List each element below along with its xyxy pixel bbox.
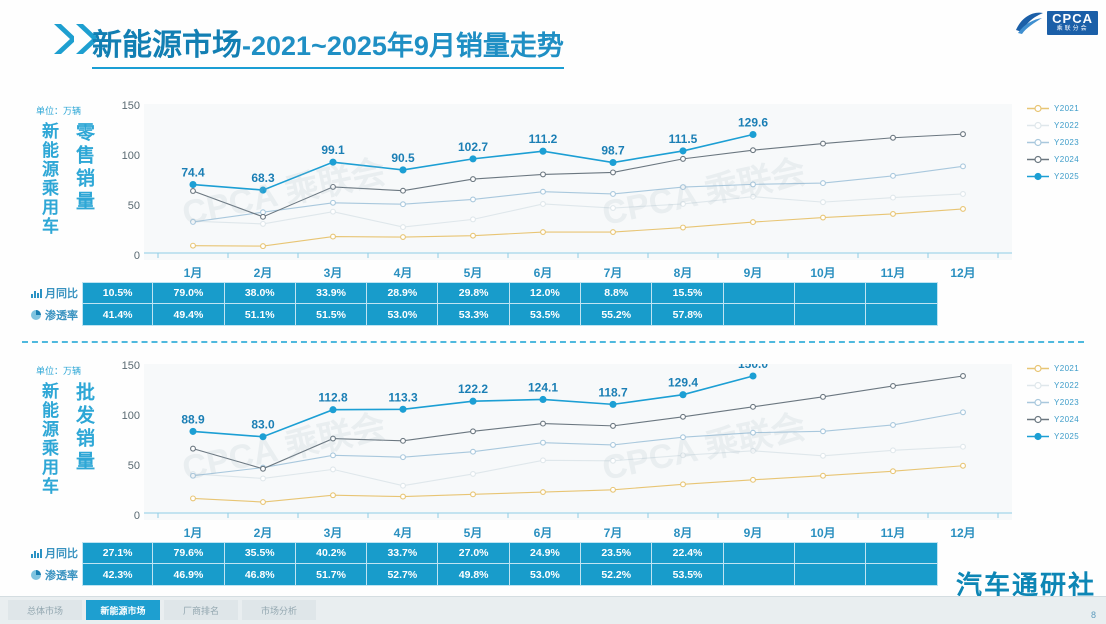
table-cell: 52.2% — [581, 564, 652, 586]
table-row-label-text: 月同比 — [45, 545, 78, 561]
wholesale-ytick-100: 100 — [114, 410, 140, 422]
svg-text:112.8: 112.8 — [318, 391, 348, 405]
x-axis-month-label: 1月 — [170, 264, 216, 281]
svg-text:122.2: 122.2 — [458, 382, 488, 396]
wholesale-chart-panel: 单位：万辆 新能源乘用车 批发销量 150 100 50 0 88.983.01… — [22, 346, 1084, 596]
table-cell: 24.9% — [510, 542, 581, 564]
x-axis-month-label: 2月 — [240, 264, 286, 281]
retail-legend: Y2021Y2022Y2023Y2024Y2025 — [1027, 104, 1079, 181]
legend-label: Y2022 — [1054, 381, 1079, 390]
table-cell: 49.4% — [153, 304, 224, 326]
table-cell: 46.9% — [153, 564, 224, 586]
legend-swatch-icon — [1027, 398, 1049, 407]
wholesale-metric-label: 批发销量 — [70, 382, 97, 474]
table-row: 27.1%79.6%35.5%40.2%33.7%27.0%24.9%23.5%… — [82, 542, 938, 564]
table-cell: 53.3% — [438, 304, 509, 326]
legend-item-y2025[interactable]: Y2025 — [1027, 432, 1079, 441]
legend-label: Y2021 — [1054, 104, 1079, 113]
x-axis-month-label: 5月 — [450, 264, 496, 281]
table-cell: 38.0% — [225, 282, 296, 304]
table-cell: 52.7% — [367, 564, 438, 586]
svg-text:88.9: 88.9 — [181, 412, 205, 426]
wholesale-data-table: 月同比渗透率 27.1%79.6%35.5%40.2%33.7%27.0%24.… — [22, 542, 938, 586]
retail-line-chart: 74.468.399.190.5102.7111.298.7111.5129.6 — [144, 104, 1012, 260]
table-cell: 33.7% — [367, 542, 438, 564]
table-cell: 51.7% — [296, 564, 367, 586]
cpca-swoosh-icon — [1014, 10, 1044, 36]
retail-ytick-150: 150 — [114, 100, 140, 112]
legend-item-y2024[interactable]: Y2024 — [1027, 155, 1079, 164]
legend-item-y2024[interactable]: Y2024 — [1027, 415, 1079, 424]
table-row-label-text: 渗透率 — [45, 567, 78, 583]
table-cell: 51.1% — [225, 304, 296, 326]
cpca-logo-subtext: 乘联分会 — [1052, 25, 1093, 33]
cpca-logo-block: CPCA 乘联分会 — [1047, 11, 1098, 35]
wholesale-legend: Y2021Y2022Y2023Y2024Y2025 — [1027, 364, 1079, 441]
x-axis-month-label: 11月 — [870, 524, 916, 541]
footer-tabs[interactable]: 总体市场新能源市场厂商排名市场分析 — [8, 600, 316, 620]
table-cell: 23.5% — [581, 542, 652, 564]
legend-item-y2021[interactable]: Y2021 — [1027, 364, 1079, 373]
legend-swatch-icon — [1027, 104, 1049, 113]
x-axis-month-label: 7月 — [590, 524, 636, 541]
table-cell: 41.4% — [82, 304, 153, 326]
x-axis-month-label: 9月 — [730, 264, 776, 281]
bar-chart-icon — [30, 287, 42, 299]
legend-swatch-icon — [1027, 155, 1049, 164]
x-axis-month-label: 3月 — [310, 264, 356, 281]
bar-chart-icon — [30, 547, 42, 559]
table-cell: 22.4% — [652, 542, 723, 564]
page-title-sub: -2021~2025年9月销量走势 — [242, 31, 564, 61]
legend-label: Y2025 — [1054, 172, 1079, 181]
table-cell: 51.5% — [296, 304, 367, 326]
wholesale-unit-label: 单位：万辆 — [36, 364, 81, 377]
table-cell — [795, 304, 866, 326]
legend-swatch-icon — [1027, 381, 1049, 390]
table-cell — [724, 564, 795, 586]
x-axis-month-label: 5月 — [450, 524, 496, 541]
x-axis-month-label: 7月 — [590, 264, 636, 281]
x-axis-month-label: 10月 — [800, 264, 846, 281]
footer-tab-item[interactable]: 厂商排名 — [164, 600, 238, 620]
retail-plot-area: 74.468.399.190.5102.7111.298.7111.5129.6 — [144, 104, 1012, 260]
legend-item-y2023[interactable]: Y2023 — [1027, 398, 1079, 407]
wholesale-category-label: 新能源乘用车 — [36, 382, 61, 496]
footer-bar: 总体市场新能源市场厂商排名市场分析 8 — [0, 596, 1106, 624]
table-cell: 49.8% — [438, 564, 509, 586]
svg-text:74.4: 74.4 — [181, 166, 205, 180]
legend-item-y2021[interactable]: Y2021 — [1027, 104, 1079, 113]
table-cell: 53.5% — [510, 304, 581, 326]
retail-unit-label: 单位：万辆 — [36, 104, 81, 117]
x-axis-month-label: 8月 — [660, 264, 706, 281]
svg-text:118.7: 118.7 — [598, 385, 628, 399]
svg-text:129.4: 129.4 — [668, 376, 698, 390]
cpca-logo: CPCA 乘联分会 — [1014, 10, 1098, 36]
legend-label: Y2023 — [1054, 398, 1079, 407]
legend-label: Y2024 — [1054, 415, 1079, 424]
legend-swatch-icon — [1027, 364, 1049, 373]
wholesale-ytick-50: 50 — [114, 460, 140, 472]
x-axis-month-label: 3月 — [310, 524, 356, 541]
table-cell: 8.8% — [581, 282, 652, 304]
x-axis-month-label: 9月 — [730, 524, 776, 541]
table-row: 41.4%49.4%51.1%51.5%53.0%53.3%53.5%55.2%… — [82, 304, 938, 326]
retail-data-table: 月同比渗透率 10.5%79.0%38.0%33.9%28.9%29.8%12.… — [22, 282, 938, 326]
svg-text:129.6: 129.6 — [738, 115, 768, 129]
retail-ytick-0: 0 — [114, 250, 140, 262]
table-cell — [724, 542, 795, 564]
legend-item-y2022[interactable]: Y2022 — [1027, 381, 1079, 390]
svg-text:90.5: 90.5 — [391, 151, 415, 165]
x-axis-month-label: 8月 — [660, 524, 706, 541]
x-axis-month-label: 6月 — [520, 524, 566, 541]
table-cell: 10.5% — [82, 282, 153, 304]
footer-tab-active[interactable]: 新能源市场 — [86, 600, 160, 620]
table-cell — [866, 282, 937, 304]
svg-text:124.1: 124.1 — [528, 380, 558, 394]
table-cell — [724, 282, 795, 304]
table-cell: 35.5% — [225, 542, 296, 564]
retail-metric-label: 零售销量 — [70, 122, 97, 214]
x-axis-month-label: 10月 — [800, 524, 846, 541]
table-cell: 79.0% — [153, 282, 224, 304]
table-cell: 27.1% — [82, 542, 153, 564]
legend-label: Y2022 — [1054, 121, 1079, 130]
table-cell: 57.8% — [652, 304, 723, 326]
svg-text:111.2: 111.2 — [529, 132, 558, 146]
svg-text:99.1: 99.1 — [321, 143, 345, 157]
legend-item-y2023[interactable]: Y2023 — [1027, 138, 1079, 147]
legend-swatch-icon — [1027, 415, 1049, 424]
x-axis-month-label: 12月 — [940, 264, 986, 281]
table-row: 10.5%79.0%38.0%33.9%28.9%29.8%12.0%8.8%1… — [82, 282, 938, 304]
table-cell: 40.2% — [296, 542, 367, 564]
table-cell: 79.6% — [153, 542, 224, 564]
legend-item-y2022[interactable]: Y2022 — [1027, 121, 1079, 130]
retail-ytick-50: 50 — [114, 200, 140, 212]
footer-tab-item[interactable]: 总体市场 — [8, 600, 82, 620]
table-row-label: 月同比 — [22, 542, 82, 564]
table-cell — [795, 564, 866, 586]
table-row: 42.3%46.9%46.8%51.7%52.7%49.8%53.0%52.2%… — [82, 564, 938, 586]
wholesale-table-grid: 27.1%79.6%35.5%40.2%33.7%27.0%24.9%23.5%… — [82, 542, 938, 586]
legend-swatch-icon — [1027, 121, 1049, 130]
svg-text:83.0: 83.0 — [251, 418, 275, 432]
table-cell — [866, 564, 937, 586]
table-cell: 55.2% — [581, 304, 652, 326]
legend-label: Y2021 — [1054, 364, 1079, 373]
legend-label: Y2023 — [1054, 138, 1079, 147]
retail-table-grid: 10.5%79.0%38.0%33.9%28.9%29.8%12.0%8.8%1… — [82, 282, 938, 326]
slide-header: 新能源市场-2021~2025年9月销量走势 CPCA 乘联分会 — [0, 0, 1106, 78]
slide-page: 新能源市场-2021~2025年9月销量走势 CPCA 乘联分会 单位：万辆 新… — [0, 0, 1106, 624]
table-cell: 53.5% — [652, 564, 723, 586]
table-cell — [724, 304, 795, 326]
wholesale-table-row-labels: 月同比渗透率 — [22, 542, 82, 586]
x-axis-month-label: 12月 — [940, 524, 986, 541]
table-cell: 42.3% — [82, 564, 153, 586]
wholesale-ytick-0: 0 — [114, 510, 140, 522]
table-cell: 28.9% — [367, 282, 438, 304]
table-cell — [866, 304, 937, 326]
legend-swatch-icon — [1027, 172, 1049, 181]
table-cell: 53.0% — [510, 564, 581, 586]
x-axis-month-label: 4月 — [380, 264, 426, 281]
svg-text:98.7: 98.7 — [601, 144, 625, 158]
x-axis-month-label: 6月 — [520, 264, 566, 281]
table-cell: 27.0% — [438, 542, 509, 564]
svg-text:150.0: 150.0 — [738, 364, 768, 371]
svg-text:68.3: 68.3 — [251, 171, 275, 185]
table-row-label: 渗透率 — [22, 304, 82, 326]
page-title-main: 新能源市场 — [92, 29, 242, 62]
legend-item-y2025[interactable]: Y2025 — [1027, 172, 1079, 181]
legend-label: Y2025 — [1054, 432, 1079, 441]
legend-label: Y2024 — [1054, 155, 1079, 164]
footer-tab-item[interactable]: 市场分析 — [242, 600, 316, 620]
table-cell — [795, 542, 866, 564]
table-cell — [866, 542, 937, 564]
wholesale-line-chart: 88.983.0112.8113.3122.2124.1118.7129.415… — [144, 364, 1012, 520]
svg-text:113.3: 113.3 — [388, 390, 418, 404]
retail-ytick-100: 100 — [114, 150, 140, 162]
retail-table-row-labels: 月同比渗透率 — [22, 282, 82, 326]
page-title: 新能源市场-2021~2025年9月销量走势 — [92, 20, 564, 69]
table-cell: 12.0% — [510, 282, 581, 304]
chevron-double-right-icon — [52, 22, 96, 56]
x-axis-month-label: 4月 — [380, 524, 426, 541]
pie-chart-icon — [30, 309, 42, 321]
legend-swatch-icon — [1027, 138, 1049, 147]
retail-category-label: 新能源乘用车 — [36, 122, 61, 236]
retail-chart-panel: 单位：万辆 新能源乘用车 零售销量 150 100 50 0 74.468.39… — [22, 86, 1084, 336]
x-axis-month-label: 1月 — [170, 524, 216, 541]
table-cell — [795, 282, 866, 304]
table-row-label: 月同比 — [22, 282, 82, 304]
svg-text:111.5: 111.5 — [669, 132, 698, 146]
table-row-label-text: 渗透率 — [45, 307, 78, 323]
table-cell: 53.0% — [367, 304, 438, 326]
table-cell: 33.9% — [296, 282, 367, 304]
svg-text:102.7: 102.7 — [458, 140, 488, 154]
x-axis-month-label: 11月 — [870, 264, 916, 281]
section-divider — [22, 341, 1084, 343]
wholesale-ytick-150: 150 — [114, 360, 140, 372]
table-cell: 46.8% — [225, 564, 296, 586]
cpca-logo-text: CPCA — [1052, 12, 1093, 25]
x-axis-month-label: 2月 — [240, 524, 286, 541]
page-number: 8 — [1091, 610, 1096, 620]
table-cell: 15.5% — [652, 282, 723, 304]
table-cell: 29.8% — [438, 282, 509, 304]
pie-chart-icon — [30, 569, 42, 581]
legend-swatch-icon — [1027, 432, 1049, 441]
wholesale-plot-area: 88.983.0112.8113.3122.2124.1118.7129.415… — [144, 364, 1012, 520]
table-row-label: 渗透率 — [22, 564, 82, 586]
table-row-label-text: 月同比 — [45, 285, 78, 301]
